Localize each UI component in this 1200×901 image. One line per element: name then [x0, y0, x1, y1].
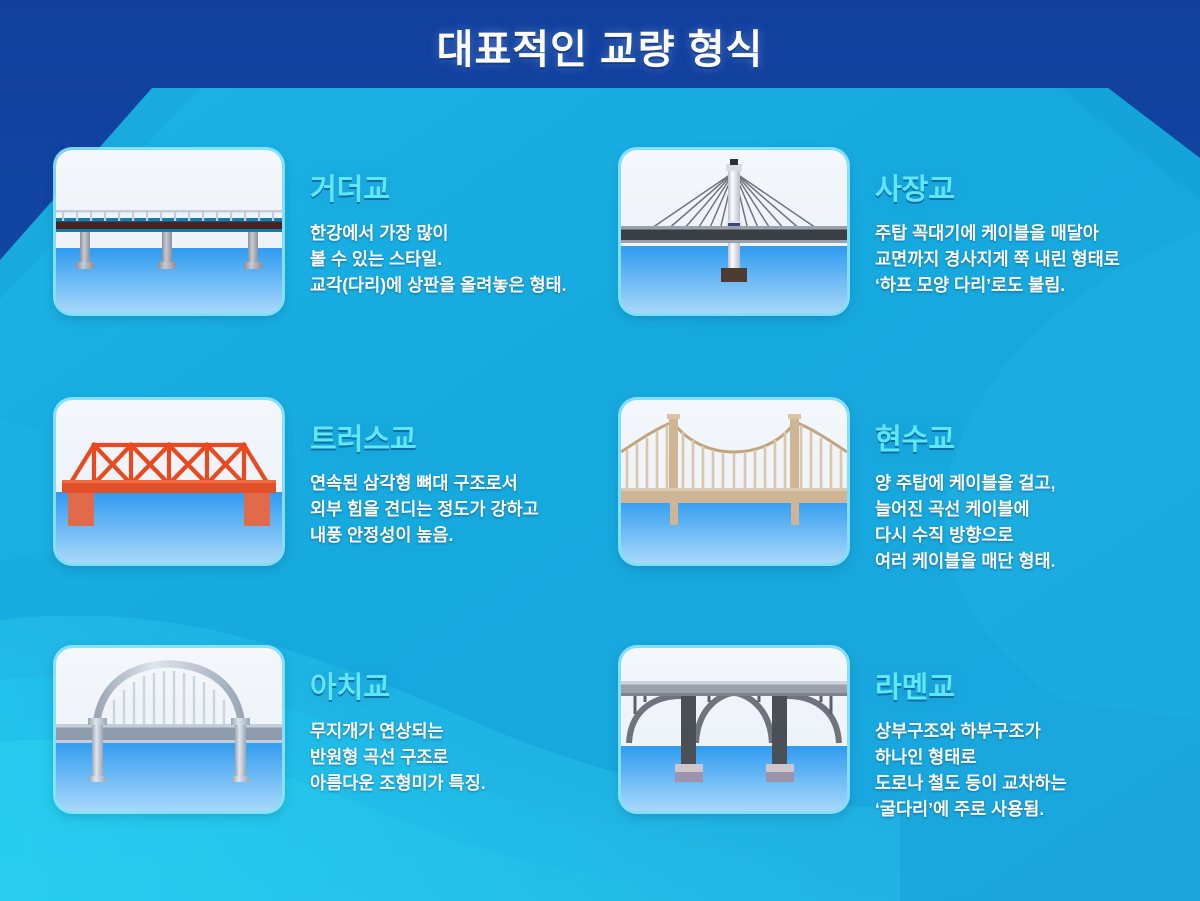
bridge-item-rahmen: 라멘교 상부구조와 하부구조가 하나인 형태로 도로나 철도 등이 교차하는 ‘… — [621, 648, 1160, 870]
cable-stayed-bridge-illustration — [621, 150, 847, 313]
desc-line: 여러 케이블을 매단 형태. — [875, 548, 1055, 574]
suspension-bridge-illustration — [621, 400, 847, 563]
bridge-item-cable-stayed: 사장교 주탑 꼭대기에 케이블을 매달아 교면까지 경사지게 쭉 내린 형태로 … — [621, 150, 1160, 400]
desc-line: 도로나 철도 등이 교차하는 — [875, 770, 1067, 796]
bridge-item-girder: 거더교 한강에서 가장 많이 볼 수 있는 스타일. 교각(다리)에 상판을 올… — [56, 150, 621, 400]
cable-stayed-bridge-icon — [621, 150, 847, 313]
desc-line: 무지개가 연상되는 — [310, 718, 486, 744]
rahmen-description: 상부구조와 하부구조가 하나인 형태로 도로나 철도 등이 교차하는 ‘굴다리’… — [875, 718, 1067, 822]
girder-bridge-icon — [56, 150, 282, 313]
desc-line: ‘굴다리’에 주로 사용됨. — [875, 796, 1067, 822]
arch-heading: 아치교 — [310, 664, 486, 706]
truss-description: 연속된 삼각형 뼈대 구조로서 외부 힘을 견디는 정도가 강하고 내풍 안정성… — [310, 470, 539, 548]
page-title: 대표적인 교량 형식 — [437, 17, 764, 75]
desc-line: 연속된 삼각형 뼈대 구조로서 — [310, 470, 539, 496]
desc-line: 볼 수 있는 스타일. — [310, 246, 567, 272]
cable-stayed-heading: 사장교 — [875, 166, 1120, 208]
truss-bridge-illustration — [56, 400, 282, 563]
girder-bridge-illustration — [56, 150, 282, 313]
arch-bridge-icon — [56, 648, 282, 811]
desc-line: 하나인 형태로 — [875, 744, 1067, 770]
desc-line: 상부구조와 하부구조가 — [875, 718, 1067, 744]
girder-text-block: 거더교 한강에서 가장 많이 볼 수 있는 스타일. 교각(다리)에 상판을 올… — [282, 150, 567, 298]
desc-line: 교면까지 경사지게 쭉 내린 형태로 — [875, 246, 1120, 272]
arch-text-block: 아치교 무지개가 연상되는 반원형 곡선 구조로 아름다운 조형미가 특징. — [282, 648, 486, 796]
rahmen-text-block: 라멘교 상부구조와 하부구조가 하나인 형태로 도로나 철도 등이 교차하는 ‘… — [847, 648, 1067, 822]
desc-line: 한강에서 가장 많이 — [310, 220, 567, 246]
desc-line: ‘하프 모양 다리’로도 불림. — [875, 272, 1120, 298]
cable-stayed-text-block: 사장교 주탑 꼭대기에 케이블을 매달아 교면까지 경사지게 쭉 내린 형태로 … — [847, 150, 1120, 298]
desc-line: 주탑 꼭대기에 케이블을 매달아 — [875, 220, 1120, 246]
rahmen-heading: 라멘교 — [875, 664, 1067, 706]
suspension-bridge-icon — [621, 400, 847, 563]
rahmen-bridge-icon — [621, 648, 847, 811]
arch-description: 무지개가 연상되는 반원형 곡선 구조로 아름다운 조형미가 특징. — [310, 718, 486, 796]
desc-line: 외부 힘을 견디는 정도가 강하고 — [310, 496, 539, 522]
girder-heading: 거더교 — [310, 166, 567, 208]
desc-line: 아름다운 조형미가 특징. — [310, 770, 486, 796]
bridge-item-arch: 아치교 무지개가 연상되는 반원형 곡선 구조로 아름다운 조형미가 특징. — [56, 648, 621, 870]
truss-bridge-icon — [56, 400, 282, 563]
truss-text-block: 트러스교 연속된 삼각형 뼈대 구조로서 외부 힘을 견디는 정도가 강하고 내… — [282, 400, 539, 548]
infographic-poster: 대표적인 교량 형식 — [0, 0, 1200, 901]
desc-line: 내풍 안정성이 높음. — [310, 522, 539, 548]
arch-bridge-illustration — [56, 648, 282, 811]
desc-line: 교각(다리)에 상판을 올려놓은 형태. — [310, 272, 567, 298]
suspension-heading: 현수교 — [875, 416, 1055, 458]
rahmen-bridge-illustration — [621, 648, 847, 811]
bridge-item-truss: 트러스교 연속된 삼각형 뼈대 구조로서 외부 힘을 견디는 정도가 강하고 내… — [56, 400, 621, 648]
desc-line: 양 주탑에 케이블을 걸고, — [875, 470, 1055, 496]
desc-line: 반원형 곡선 구조로 — [310, 744, 486, 770]
girder-description: 한강에서 가장 많이 볼 수 있는 스타일. 교각(다리)에 상판을 올려놓은 … — [310, 220, 567, 298]
suspension-description: 양 주탑에 케이블을 걸고, 늘어진 곡선 케이블에 다시 수직 방향으로 여러… — [875, 470, 1055, 574]
cable-stayed-description: 주탑 꼭대기에 케이블을 매달아 교면까지 경사지게 쭉 내린 형태로 ‘하프 … — [875, 220, 1120, 298]
desc-line: 늘어진 곡선 케이블에 — [875, 496, 1055, 522]
desc-line: 다시 수직 방향으로 — [875, 522, 1055, 548]
suspension-text-block: 현수교 양 주탑에 케이블을 걸고, 늘어진 곡선 케이블에 다시 수직 방향으… — [847, 400, 1055, 574]
title-bar: 대표적인 교량 형식 — [0, 0, 1200, 92]
truss-heading: 트러스교 — [310, 416, 539, 458]
bridge-item-suspension: 현수교 양 주탑에 케이블을 걸고, 늘어진 곡선 케이블에 다시 수직 방향으… — [621, 400, 1160, 648]
bridge-type-grid: 거더교 한강에서 가장 많이 볼 수 있는 스타일. 교각(다리)에 상판을 올… — [56, 150, 1160, 870]
